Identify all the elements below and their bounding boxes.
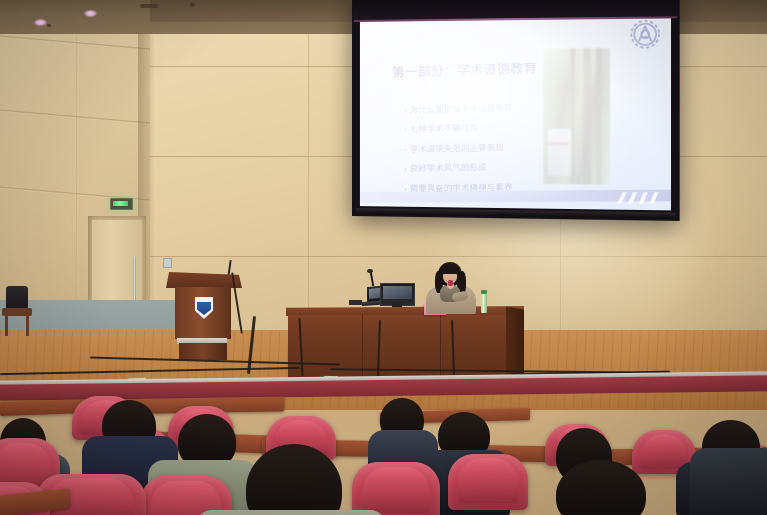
audience-torso (196, 510, 386, 515)
podium-base (179, 343, 227, 360)
audience-torso (690, 448, 767, 515)
presenter-table (286, 306, 524, 384)
university-gear-emblem-icon (624, 18, 667, 52)
slide-title: 第一部分：学术道德教育 (392, 57, 538, 81)
university-shield-crest-icon (195, 297, 213, 319)
handheld-microphone-icon (448, 280, 453, 286)
desk-device-box (349, 300, 362, 305)
wall-outlet-icon (163, 258, 172, 268)
side-chair (0, 286, 32, 336)
ceiling-fixture (47, 24, 51, 27)
monitor-stand (392, 303, 402, 307)
ceiling-vent (140, 4, 158, 8)
door-handle-icon[interactable] (133, 256, 136, 304)
water-bottle-icon (481, 293, 487, 313)
podium-body (175, 287, 231, 339)
audience-seating (0, 392, 767, 515)
bottle-cap (481, 290, 487, 294)
presentation-slide: 第一部分：学术道德教育 为什么要加强学术道德教育 七种学术不端行为 学术道德失范… (360, 18, 671, 210)
presenter (424, 262, 476, 312)
ceiling-light (34, 19, 47, 26)
exit-sign-icon (110, 198, 133, 210)
table-front-panel (288, 315, 522, 384)
ceiling-sensor (190, 2, 195, 7)
lecture-hall-photo: 第一部分：学术道德教育 为什么要加强学术道德教育 七种学术不端行为 学术道德失范… (0, 0, 767, 515)
auditorium-seat[interactable] (448, 454, 528, 510)
ceiling-light (84, 10, 97, 17)
auditorium-seat[interactable] (352, 462, 440, 515)
slide-campus-photo (543, 48, 609, 185)
projection-screen: 第一部分：学术道德教育 为什么要加强学术道德教育 七种学术不端行为 学术道德失范… (352, 0, 680, 221)
speaker-podium (166, 272, 242, 360)
slide-stripe-decoration (617, 192, 664, 204)
